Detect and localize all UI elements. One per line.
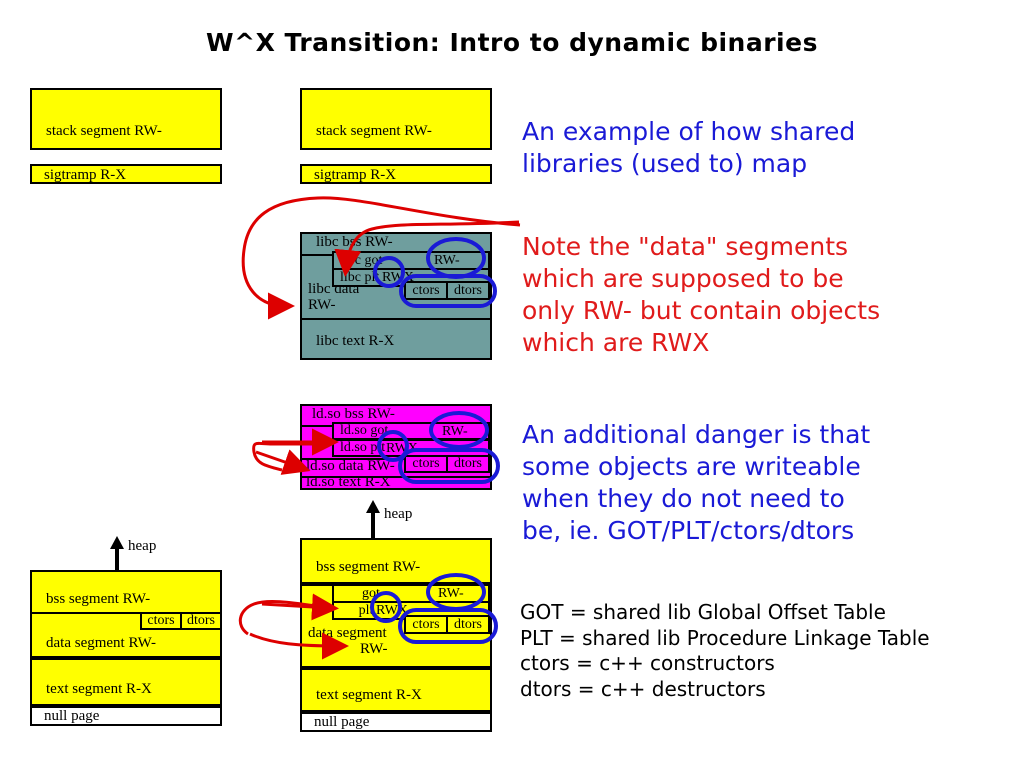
mid-data-segment-label-line2: RW- [360, 642, 388, 658]
mid-bss-segment: bss segment RW- [300, 538, 492, 584]
mid-dtors-label: dtors [454, 617, 482, 633]
page-title: W^X Transition: Intro to dynamic binarie… [0, 28, 1024, 57]
mid-ctors-label: ctors [412, 617, 439, 633]
mid-text-segment: text segment R-X [300, 668, 492, 712]
libc-data-label-line2: RW- [308, 298, 336, 314]
mid-text-segment-label: text segment R-X [316, 688, 422, 704]
ldso-ctors-block: ctors [404, 455, 448, 473]
left-stack-segment: stack segment RW- [30, 88, 222, 150]
note-data-segments: Note the "data" segments which are suppo… [522, 231, 880, 359]
left-ctors-block: ctors [140, 612, 182, 630]
left-heap-label: heap [128, 538, 156, 555]
libc-ctors-block: ctors [404, 281, 448, 300]
mid-sigtramp-label: sigtramp R-X [314, 168, 396, 184]
ldso-text-label: ld.so text R-X [306, 475, 391, 490]
mid-got-label: got [362, 586, 380, 602]
mid-heap-arrow [362, 500, 384, 538]
left-data-segment-label: data segment RW- [46, 636, 156, 652]
mid-null-page: null page [300, 712, 492, 732]
note-shared-libraries: An example of how shared libraries (used… [522, 116, 855, 180]
left-dtors-block: dtors [180, 612, 222, 630]
left-ctors-label: ctors [147, 613, 174, 629]
mid-ctors-block: ctors [404, 615, 448, 634]
left-null-page: null page [30, 706, 222, 726]
mid-plt-label: plt [359, 603, 374, 619]
mid-bss-segment-label: bss segment RW- [316, 560, 420, 576]
left-heap-arrow [106, 536, 128, 572]
libc-bss-label: libc bss RW- [316, 235, 393, 251]
ldso-data-label: ld.so data RW- [306, 459, 395, 475]
libc-data-divider [302, 318, 490, 320]
mid-data-segment-label-line1: data segment [308, 626, 387, 642]
mid-dtors-block: dtors [446, 615, 490, 634]
libc-plt-label: libc plt [340, 270, 379, 286]
mid-stack-segment-label: stack segment RW- [316, 124, 432, 140]
left-bss-segment: bss segment RW- [30, 570, 222, 614]
left-stack-segment-label: stack segment RW- [46, 124, 162, 140]
libc-got-label: libc got [340, 253, 382, 269]
libc-dtors-block: dtors [446, 281, 490, 300]
ldso-ctors-label: ctors [412, 456, 439, 472]
slide-canvas: W^X Transition: Intro to dynamic binarie… [0, 0, 1024, 768]
ldso-bss-label: ld.so bss RW- [312, 407, 395, 423]
left-sigtramp-segment: sigtramp R-X [30, 164, 222, 184]
left-bss-segment-label: bss segment RW- [46, 592, 150, 608]
mid-null-page-label: null page [314, 715, 369, 731]
libc-text-label: libc text R-X [316, 334, 394, 350]
mid-stack-segment: stack segment RW- [300, 88, 492, 150]
left-sigtramp-label: sigtramp R-X [44, 168, 126, 184]
left-null-page-label: null page [44, 709, 99, 725]
libc-ctors-label: ctors [412, 283, 439, 299]
mid-sigtramp-segment: sigtramp R-X [300, 164, 492, 184]
note-legend: GOT = shared lib Global Offset Table PLT… [520, 600, 930, 702]
libc-dtors-label: dtors [454, 283, 482, 299]
note-additional-danger: An additional danger is that some object… [522, 419, 870, 547]
left-text-segment: text segment R-X [30, 658, 222, 706]
left-text-segment-label: text segment R-X [46, 682, 152, 698]
ldso-dtors-block: dtors [446, 455, 490, 473]
ldso-got-label: ld.so got [340, 423, 388, 439]
left-dtors-label: dtors [187, 613, 215, 629]
mid-heap-label: heap [384, 506, 412, 523]
ldso-plt-label: ld.so plt [340, 440, 385, 456]
ldso-dtors-label: dtors [454, 456, 482, 472]
